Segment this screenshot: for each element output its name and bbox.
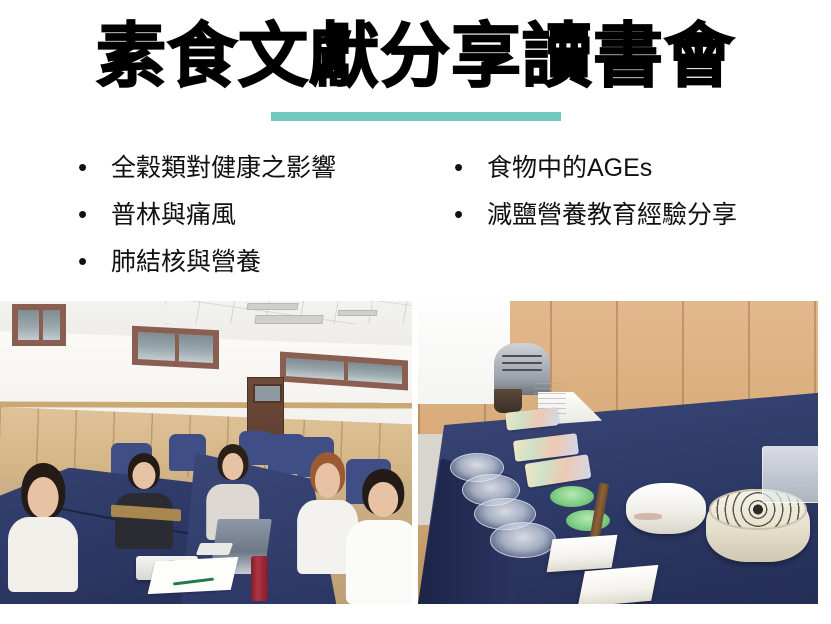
list-item-label: 全穀類對健康之影響 (98, 150, 336, 186)
bullet-point-icon: • (72, 150, 98, 184)
list-item[interactable]: • 食物中的AGEs (448, 150, 828, 197)
photo-strip (0, 301, 831, 604)
topic-list-right-column: • 食物中的AGEs • 減鹽營養教育經驗分享 (448, 150, 828, 244)
tableware-scene (418, 301, 818, 604)
mobile-phone (196, 543, 233, 555)
list-item[interactable]: • 全穀類對健康之影響 (72, 150, 452, 197)
white-paper-sheet (148, 556, 239, 594)
list-item[interactable]: • 減鹽營養教育經驗分享 (448, 197, 828, 244)
torso (346, 520, 412, 604)
wall-window (12, 304, 66, 346)
dark-cup (494, 389, 522, 413)
topic-list: • 全穀類對健康之影響 • 普林與痛風 • 肺結核與營養 • 食物中的AGEs … (0, 150, 831, 295)
green-side-dish (550, 486, 594, 507)
red-thermos-bottle (251, 556, 267, 601)
clear-plastic-bowl (490, 522, 556, 557)
meeting-room-scene (0, 301, 412, 604)
seated-participant (8, 471, 78, 592)
torso (115, 493, 173, 549)
bullet-point-icon: • (448, 150, 474, 184)
meeting-room-photo (0, 301, 412, 604)
toaster-slot (502, 369, 542, 371)
list-item-label: 食物中的AGEs (474, 150, 652, 186)
list-item-label: 減鹽營養教育經驗分享 (474, 197, 737, 233)
list-item-label: 肺結核與營養 (98, 244, 261, 280)
ceiling-vent (338, 310, 378, 316)
bullet-point-icon: • (72, 197, 98, 231)
window-mullion (39, 310, 43, 340)
list-item[interactable]: • 肺結核與營養 (72, 244, 452, 291)
list-item-label: 普林與痛風 (98, 197, 236, 233)
ceiling-vent (247, 303, 300, 310)
square-white-plate (578, 565, 659, 604)
title-underline-rule (271, 112, 561, 121)
seated-participant (115, 459, 173, 550)
page-title: 素食文獻分享讀書會 (0, 14, 831, 98)
square-white-plate (547, 535, 618, 573)
head (28, 477, 59, 518)
plastic-packaging-bag (762, 446, 818, 503)
list-item[interactable]: • 普林與痛風 (72, 197, 452, 244)
toaster-slot (502, 355, 542, 357)
bullet-point-icon: • (72, 244, 98, 278)
ceiling-vent (255, 315, 324, 324)
bullet-point-icon: • (448, 197, 474, 231)
seated-participant (346, 477, 412, 604)
wall-window (132, 326, 219, 370)
head (315, 463, 341, 498)
white-ceramic-bowl (626, 483, 706, 535)
tableware-photo (418, 301, 818, 604)
door-window-pane (253, 384, 282, 403)
head (368, 482, 398, 518)
toaster-slot (502, 362, 542, 364)
topic-list-left-column: • 全穀類對健康之影響 • 普林與痛風 • 肺結核與營養 (72, 150, 452, 291)
torso (8, 517, 78, 592)
window-mullion (344, 362, 348, 381)
bowl-decoration (634, 513, 662, 520)
window-mullion (175, 334, 179, 362)
